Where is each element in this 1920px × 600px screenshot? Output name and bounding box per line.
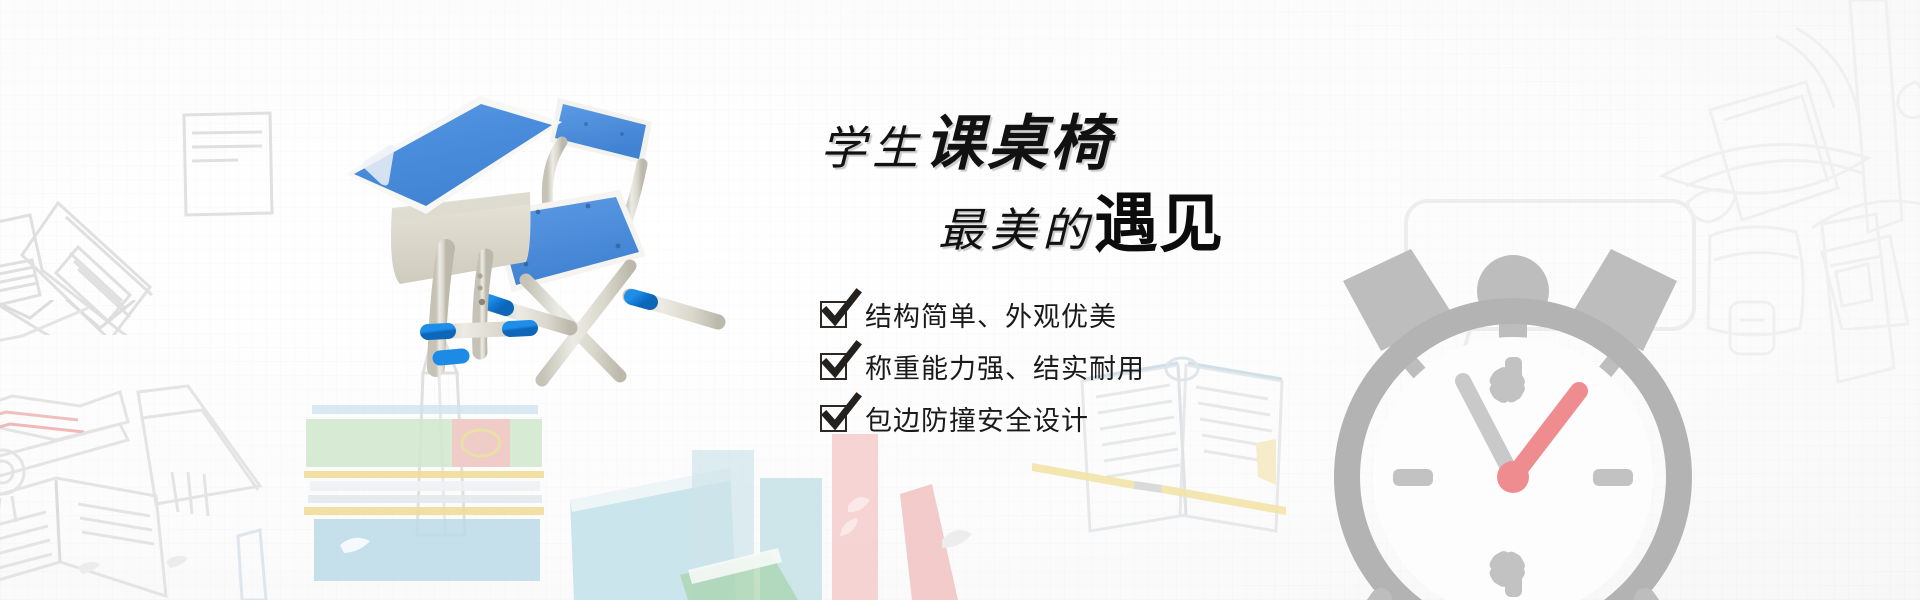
headline-line2-emphasis: 遇见 [1094, 188, 1224, 260]
feature-text: 称重能力强、结实耐用 [865, 347, 1145, 386]
feature-item: 结构简单、外观优美 [820, 288, 1380, 340]
promo-banner: 学生课桌椅 最美的遇见 结构简单、外观优美 [0, 0, 1920, 600]
student-desk-and-chair-photo [330, 80, 760, 460]
headline: 学生课桌椅 最美的遇见 [820, 95, 1380, 280]
headline-line1-prefix: 学生 [820, 123, 924, 174]
speech-bubble-line-art [1400, 195, 1700, 375]
copy-block: 学生课桌椅 最美的遇见 结构简单、外观优美 [820, 95, 1380, 485]
feature-item: 称重能力强、结实耐用 [820, 340, 1380, 392]
notebooks-line-art [0, 95, 300, 335]
feature-item: 包边防撞安全设计 [820, 392, 1380, 444]
feature-list: 结构简单、外观优美 称重能力强、结实耐用 包边防撞安全设计 [820, 288, 1380, 444]
headline-line-1: 学生课桌椅 [820, 95, 1113, 182]
headline-line-2: 最美的遇见 [938, 173, 1224, 265]
backpack-line-art [1600, 0, 1920, 330]
headline-line1-emphasis: 课桌椅 [924, 111, 1113, 177]
checkbox-check-icon [820, 353, 847, 380]
checkbox-check-icon [820, 405, 847, 432]
satchel-line-art [1680, 180, 1920, 480]
checkbox-check-icon [820, 301, 847, 328]
headline-line2-prefix: 最美的 [938, 205, 1094, 256]
feature-text: 结构简单、外观优美 [865, 295, 1117, 334]
feature-text: 包边防撞安全设计 [865, 399, 1089, 438]
